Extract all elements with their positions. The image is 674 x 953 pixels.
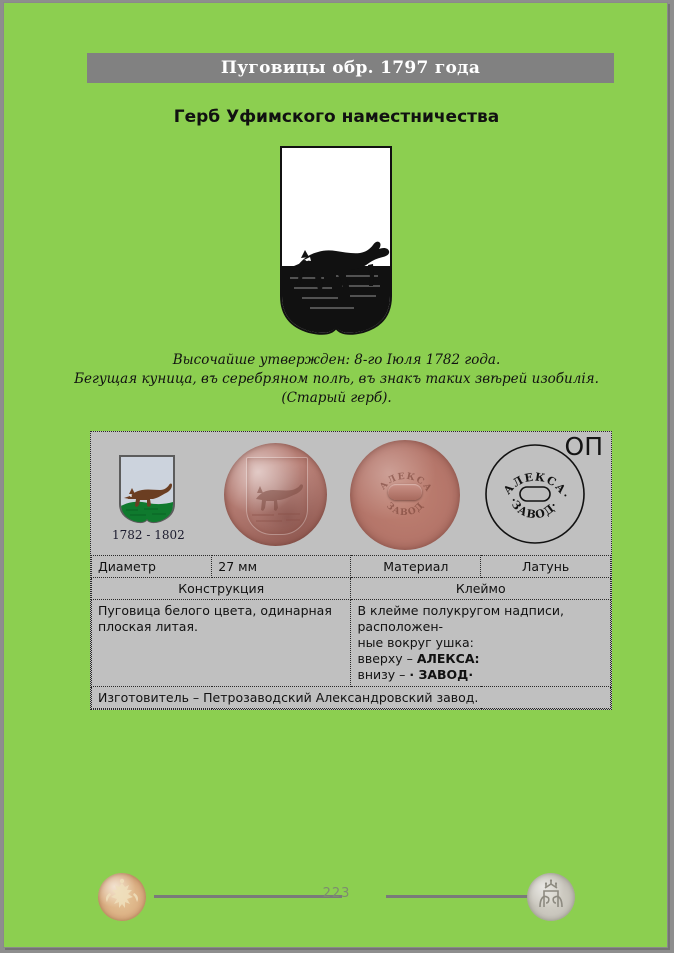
banner-title: Пуговицы обр. 1797 года <box>221 58 480 78</box>
button-gallery: ОП <box>91 432 611 555</box>
stamp-bottom-value: · ЗАВОД· <box>409 667 473 682</box>
page-banner: Пуговицы обр. 1797 года <box>87 53 614 83</box>
arms-description-line-3: (Старый герб). <box>4 389 669 408</box>
embossed-marten-relief <box>248 473 306 529</box>
arms-description-line-1: Высочайше утвержден: 8-го Іюля 1782 года… <box>4 351 669 370</box>
cell-material-value: Латунь <box>481 556 611 578</box>
specification-table: Диаметр 27 мм Материал Латунь Конструкци… <box>91 555 611 709</box>
stamp-line-2: ные вокруг ушка: <box>357 635 604 651</box>
stamp-top-value: АЛЕКСА: <box>417 651 480 666</box>
svg-text:ЗАВОД: ЗАВОД <box>384 500 427 518</box>
arms-years-label: 1782 - 1802 <box>112 528 176 542</box>
cell-construction-header: Конструкция <box>92 578 351 600</box>
stamp-top-prefix: вверху – <box>357 651 416 666</box>
stamp-line-top: вверху – АЛЕКСА: <box>357 651 604 667</box>
table-row: Изготовитель – Петрозаводский Александро… <box>92 687 611 709</box>
coat-of-arms-image <box>280 146 392 339</box>
table-row: Диаметр 27 мм Материал Латунь <box>92 556 611 578</box>
cell-material-label: Материал <box>351 556 481 578</box>
cell-stamp-header: Клеймо <box>351 578 611 600</box>
stamp-line-bottom: внизу – · ЗАВОД· <box>357 667 604 683</box>
button-shank <box>388 484 422 500</box>
page-title: Герб Уфимского наместничества <box>4 107 669 127</box>
table-row: Конструкция Клеймо <box>92 578 611 600</box>
construction-line-1: Пуговица белого цвета, одинарная <box>98 603 344 619</box>
stamp-bottom-text: ·ЗАВОД· <box>507 496 561 521</box>
page-footer: 223 <box>4 865 669 927</box>
cell-manufacturer: Изготовитель – Петрозаводский Александро… <box>92 687 611 709</box>
cell-diameter-label: Диаметр <box>92 556 212 578</box>
maker-stamp-diagram: АЛЕКСА· ·ЗАВОД· <box>483 442 587 546</box>
arms-description-line-2: Бегущая куница, въ серебряном полѣ, въ з… <box>4 370 669 389</box>
stamp-bottom-prefix: внизу – <box>357 667 409 682</box>
stamp-top-text: АЛЕКСА· <box>501 470 572 501</box>
button-front-photo <box>224 443 327 546</box>
coat-of-arms-thumbnail: 1782 - 1802 <box>118 454 176 542</box>
cell-stamp-text: В клейме полукругом надписи, расположен-… <box>351 600 611 687</box>
shank-outline <box>520 487 550 501</box>
button-back-photo: АЛЕКСА ЗАВОД <box>350 440 460 550</box>
stamp-line-1: В клейме полукругом надписи, расположен- <box>357 603 604 635</box>
button-spec-panel: ОП <box>90 431 612 710</box>
pavel-monogram-button-ornament <box>527 873 575 921</box>
cell-diameter-value: 27 мм <box>212 556 351 578</box>
construction-line-2: плоская литая. <box>98 619 344 635</box>
arms-description: Высочайше утвержден: 8-го Іюля 1782 года… <box>4 351 669 408</box>
table-row: Пуговица белого цвета, одинарная плоская… <box>92 600 611 687</box>
cell-construction-text: Пуговица белого цвета, одинарная плоская… <box>92 600 351 687</box>
document-page: Пуговицы обр. 1797 года Герб Уфимского н… <box>3 2 668 948</box>
